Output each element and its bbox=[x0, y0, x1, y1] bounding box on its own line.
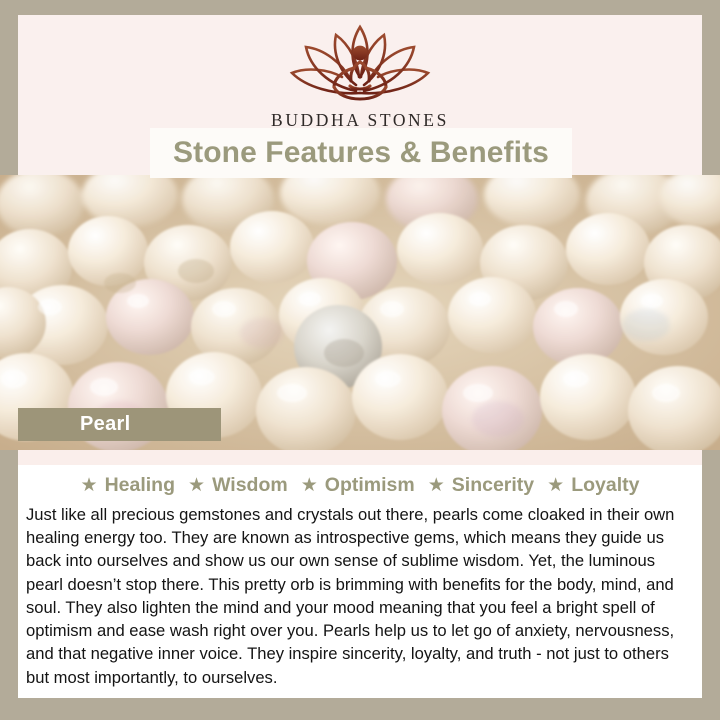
benefit-label: Optimism bbox=[325, 474, 415, 497]
benefit-item: ★ Optimism bbox=[301, 474, 415, 497]
benefits-list: ★ Healing ★ Wisdom ★ Optimism ★ Sincerit… bbox=[18, 465, 702, 500]
stone-name: Pearl bbox=[18, 413, 130, 436]
page-title-panel: Stone Features & Benefits bbox=[150, 128, 572, 178]
benefit-item: ★ Healing bbox=[81, 474, 175, 497]
benefit-label: Wisdom bbox=[212, 474, 288, 497]
benefit-item: ★ Wisdom bbox=[188, 474, 288, 497]
stone-name-bar: Pearl bbox=[18, 408, 221, 441]
benefit-label: Healing bbox=[105, 474, 175, 497]
brand-logo: BUDDHA STONES bbox=[18, 23, 702, 131]
benefit-label: Sincerity bbox=[452, 474, 534, 497]
star-icon: ★ bbox=[428, 476, 445, 495]
content-panel: ★ Healing ★ Wisdom ★ Optimism ★ Sincerit… bbox=[18, 465, 702, 698]
lotus-meditation-figure-icon bbox=[276, 23, 444, 109]
star-icon: ★ bbox=[301, 476, 318, 495]
page-title: Stone Features & Benefits bbox=[173, 136, 549, 170]
star-icon: ★ bbox=[547, 476, 564, 495]
benefit-item: ★ Sincerity bbox=[428, 474, 534, 497]
benefit-item: ★ Loyalty bbox=[547, 474, 639, 497]
accent-strip bbox=[18, 450, 702, 465]
star-icon: ★ bbox=[81, 476, 98, 495]
star-icon: ★ bbox=[188, 476, 205, 495]
stone-description: Just like all precious gemstones and cry… bbox=[26, 503, 694, 689]
benefit-label: Loyalty bbox=[571, 474, 639, 497]
